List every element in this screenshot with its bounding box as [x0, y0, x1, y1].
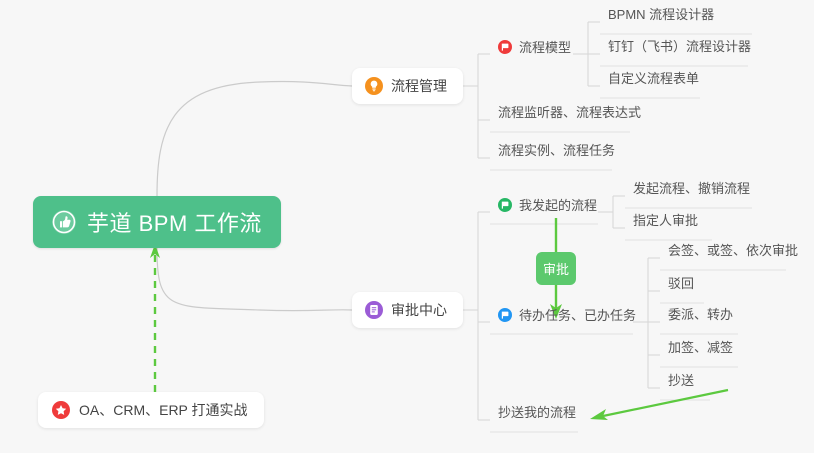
flag-icon — [498, 40, 512, 54]
node-start-cancel-process[interactable]: 发起流程、撤销流程 — [625, 182, 758, 201]
node-label: 我发起的流程 — [519, 199, 597, 213]
root-node[interactable]: 芋道 BPM 工作流 — [33, 196, 281, 248]
node-label: 会签、或签、依次审批 — [668, 244, 798, 258]
node-my-initiated-processes[interactable]: 我发起的流程 — [490, 198, 605, 218]
node-listener-expression[interactable]: 流程监听器、流程表达式 — [490, 106, 649, 125]
node-label: 自定义流程表单 — [608, 72, 699, 86]
approval-badge[interactable]: 审批 — [536, 252, 576, 285]
branch-label: 审批中心 — [391, 300, 447, 320]
node-label: 委派、转办 — [668, 308, 733, 322]
branch-node-approval-center[interactable]: 审批中心 — [352, 292, 463, 328]
integration-note-card[interactable]: OA、CRM、ERP 打通实战 — [38, 392, 264, 428]
node-label: 指定人审批 — [633, 214, 698, 228]
node-label: 钉钉（飞书）流程设计器 — [608, 40, 751, 54]
node-label: 流程实例、流程任务 — [498, 144, 615, 158]
node-custom-form[interactable]: 自定义流程表单 — [600, 72, 707, 91]
node-process-model[interactable]: 流程模型 — [490, 40, 579, 60]
node-label: 流程监听器、流程表达式 — [498, 106, 641, 120]
cc-flow-arrow — [590, 390, 728, 420]
clipboard-icon — [365, 301, 383, 319]
node-cc-to-me[interactable]: 抄送我的流程 — [490, 406, 584, 425]
node-label: 驳回 — [668, 277, 694, 291]
star-icon — [52, 401, 70, 419]
node-dingtalk-feishu-designer[interactable]: 钉钉（飞书）流程设计器 — [600, 40, 759, 59]
mindmap-canvas: 芋道 BPM 工作流 流程管理 流程模型 BPMN 流程设计器 钉钉（飞书）流程… — [0, 0, 814, 453]
node-cc[interactable]: 抄送 — [660, 374, 702, 393]
node-instance-task[interactable]: 流程实例、流程任务 — [490, 144, 623, 163]
flag-icon — [498, 198, 512, 212]
approval-badge-label: 审批 — [543, 259, 569, 278]
node-label: 待办任务、已办任务 — [519, 309, 636, 323]
node-bpmn-designer[interactable]: BPMN 流程设计器 — [600, 8, 722, 27]
node-label: 发起流程、撤销流程 — [633, 182, 750, 196]
node-countersign[interactable]: 会签、或签、依次审批 — [660, 244, 806, 263]
node-designated-approver[interactable]: 指定人审批 — [625, 214, 706, 233]
node-label: 加签、减签 — [668, 341, 733, 355]
node-label: BPMN 流程设计器 — [608, 8, 714, 22]
branch-node-process-management[interactable]: 流程管理 — [352, 68, 463, 104]
node-add-remove-sign[interactable]: 加签、减签 — [660, 341, 741, 360]
integration-note-label: OA、CRM、ERP 打通实战 — [79, 400, 248, 420]
lightbulb-icon — [365, 77, 383, 95]
root-label: 芋道 BPM 工作流 — [87, 206, 262, 238]
node-delegate-transfer[interactable]: 委派、转办 — [660, 308, 741, 327]
branch-label: 流程管理 — [391, 76, 447, 96]
dashed-arrow-to-root — [150, 244, 160, 392]
flag-icon — [498, 308, 512, 322]
thumbs-up-icon — [51, 209, 77, 235]
node-reject[interactable]: 驳回 — [660, 277, 702, 296]
node-todo-done-tasks[interactable]: 待办任务、已办任务 — [490, 308, 644, 328]
node-label: 抄送我的流程 — [498, 406, 576, 420]
node-label: 流程模型 — [519, 41, 571, 55]
node-label: 抄送 — [668, 374, 694, 388]
